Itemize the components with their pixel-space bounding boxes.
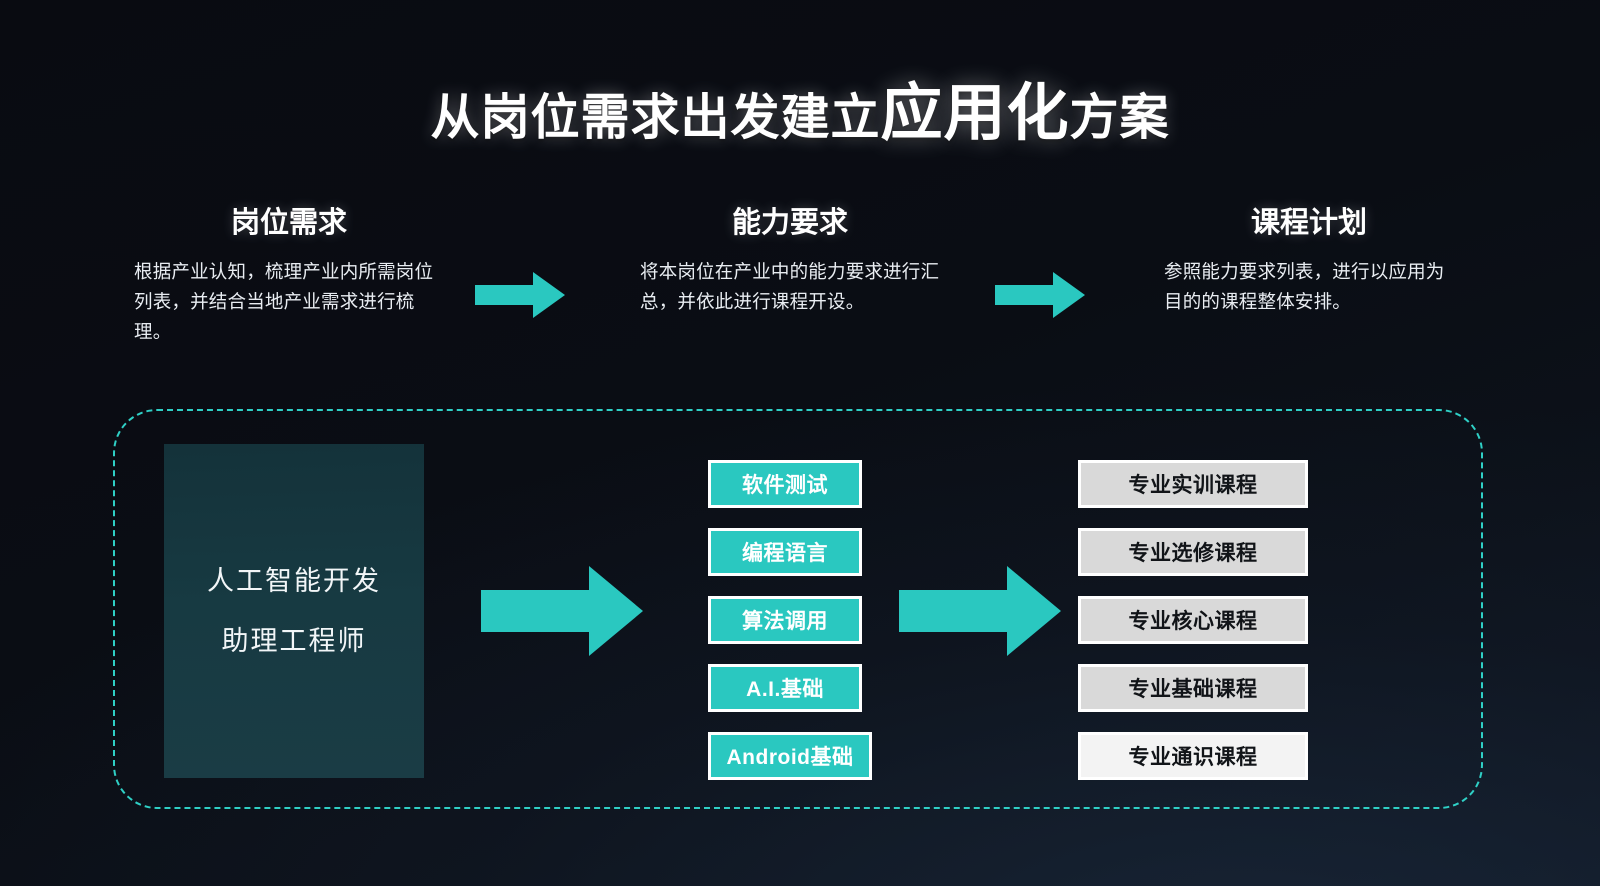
arrow-right-icon xyxy=(481,566,643,656)
job-role-line2: 助理工程师 xyxy=(222,627,367,655)
skill-item-label: 算法调用 xyxy=(742,605,828,635)
step-item-course-plan: 课程计划 参照能力要求列表，进行以应用为目的的课程整体安排。 xyxy=(1164,206,1454,317)
slide-canvas: 从岗位需求出发建立应用化方案 岗位需求 根据产业认知，梳理产业内所需岗位列表，并… xyxy=(0,0,1600,886)
steps-row: 岗位需求 根据产业认知，梳理产业内所需岗位列表，并结合当地产业需求进行梳理。 能… xyxy=(0,206,1600,366)
step-body: 根据产业认知，梳理产业内所需岗位列表，并结合当地产业需求进行梳理。 xyxy=(134,257,444,347)
skill-item[interactable]: 算法调用 xyxy=(708,596,862,644)
course-list: 专业实训课程 专业选修课程 专业核心课程 专业基础课程 专业通识课程 xyxy=(1078,460,1308,800)
arrow-right-icon xyxy=(475,272,565,318)
skill-item[interactable]: Android基础 xyxy=(708,732,872,780)
job-role-card: 人工智能开发 助理工程师 xyxy=(164,444,424,778)
skill-item[interactable]: 编程语言 xyxy=(708,528,862,576)
course-item-label: 专业通识课程 xyxy=(1129,741,1258,771)
course-item[interactable]: 专业核心课程 xyxy=(1078,596,1308,644)
course-item[interactable]: 专业基础课程 xyxy=(1078,664,1308,712)
step-body: 将本岗位在产业中的能力要求进行汇总，并依此进行课程开设。 xyxy=(640,257,940,317)
step-body: 参照能力要求列表，进行以应用为目的的课程整体安排。 xyxy=(1164,257,1454,317)
page-title: 从岗位需求出发建立应用化方案 xyxy=(0,62,1600,152)
skill-item-label: 编程语言 xyxy=(742,537,828,567)
course-item-label: 专业核心课程 xyxy=(1129,605,1258,635)
course-item-label: 专业选修课程 xyxy=(1129,537,1258,567)
course-item[interactable]: 专业实训课程 xyxy=(1078,460,1308,508)
skill-item[interactable]: A.I.基础 xyxy=(708,664,862,712)
course-item-label: 专业实训课程 xyxy=(1129,469,1258,499)
step-title: 能力要求 xyxy=(640,206,940,241)
course-item[interactable]: 专业选修课程 xyxy=(1078,528,1308,576)
skill-item[interactable]: 软件测试 xyxy=(708,460,862,508)
skill-item-label: Android基础 xyxy=(727,741,854,771)
step-item-job-demand: 岗位需求 根据产业认知，梳理产业内所需岗位列表，并结合当地产业需求进行梳理。 xyxy=(134,206,444,347)
course-item-label: 专业基础课程 xyxy=(1129,673,1258,703)
skill-list: 软件测试 编程语言 算法调用 A.I.基础 Android基础 xyxy=(708,460,872,800)
step-title: 岗位需求 xyxy=(134,206,444,241)
step-item-capability: 能力要求 将本岗位在产业中的能力要求进行汇总，并依此进行课程开设。 xyxy=(640,206,940,317)
arrow-right-icon xyxy=(899,566,1061,656)
skill-item-label: A.I.基础 xyxy=(746,673,824,703)
page-title-part3: 方案 xyxy=(1070,91,1170,145)
step-title: 课程计划 xyxy=(1164,206,1454,241)
page-title-part1: 从岗位需求出发建立 xyxy=(430,91,880,145)
arrow-right-icon xyxy=(995,272,1085,318)
skill-item-label: 软件测试 xyxy=(742,469,828,499)
course-item[interactable]: 专业通识课程 xyxy=(1078,732,1308,780)
page-title-emphasis: 应用化 xyxy=(880,79,1069,148)
job-role-line1: 人工智能开发 xyxy=(207,567,381,595)
